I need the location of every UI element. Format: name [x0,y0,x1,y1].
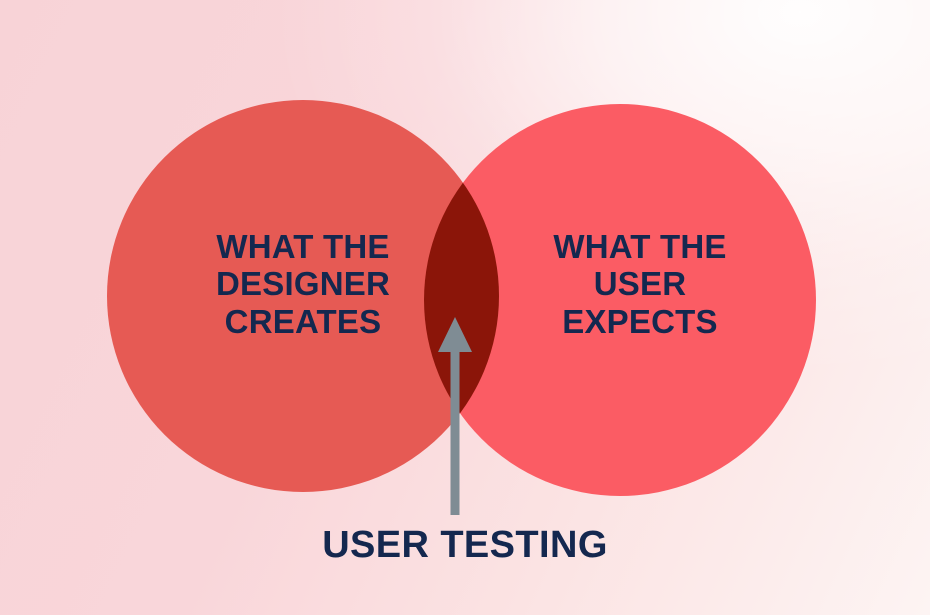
left-circle-label: WHAT THE DESIGNER CREATES [143,228,463,340]
arrow-shaft [451,342,460,515]
right-circle-label: WHAT THE USER EXPECTS [480,228,800,340]
venn-diagram-canvas: WHAT THE DESIGNER CREATES WHAT THE USER … [0,0,930,615]
caption-user-testing: USER TESTING [0,524,930,567]
